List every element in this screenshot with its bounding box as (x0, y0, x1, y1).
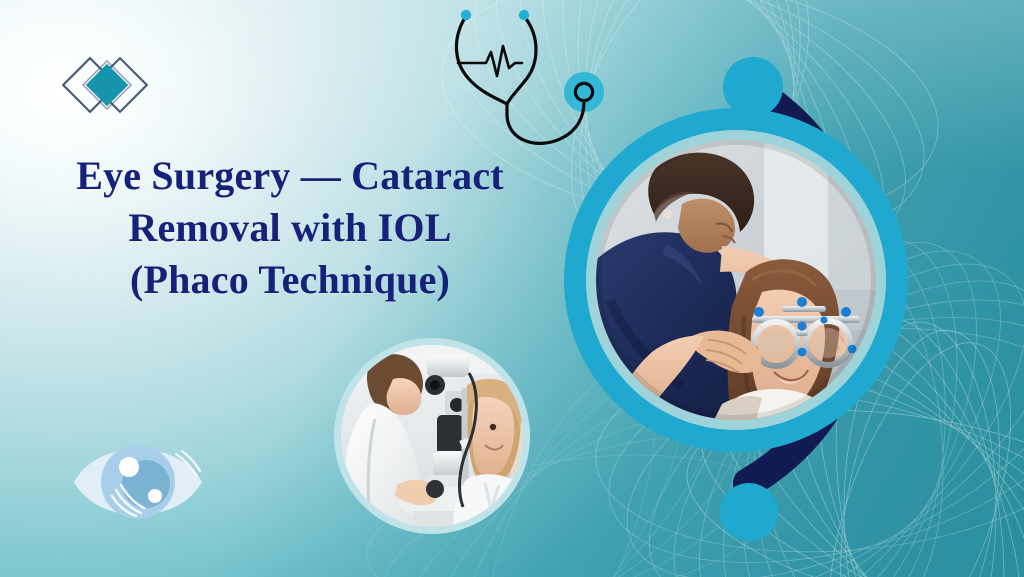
stethoscope-icon (444, 2, 626, 152)
eye-icon (72, 424, 204, 536)
page-title: Eye Surgery — Cataract Removal with IOL … (46, 150, 534, 306)
title-line-3: (Phaco Technique) (46, 254, 534, 306)
title-line-1: Eye Surgery — Cataract (46, 150, 534, 202)
title-line-2: Removal with IOL (46, 202, 534, 254)
overlapping-diamonds-logo (62, 56, 148, 114)
optometrist-fitting-trial-frames (596, 140, 876, 420)
banner-canvas: Eye Surgery — Cataract Removal with IOL … (0, 0, 1024, 577)
accent-dot-bottom (720, 483, 778, 541)
slit-lamp-eye-examination (341, 345, 523, 527)
